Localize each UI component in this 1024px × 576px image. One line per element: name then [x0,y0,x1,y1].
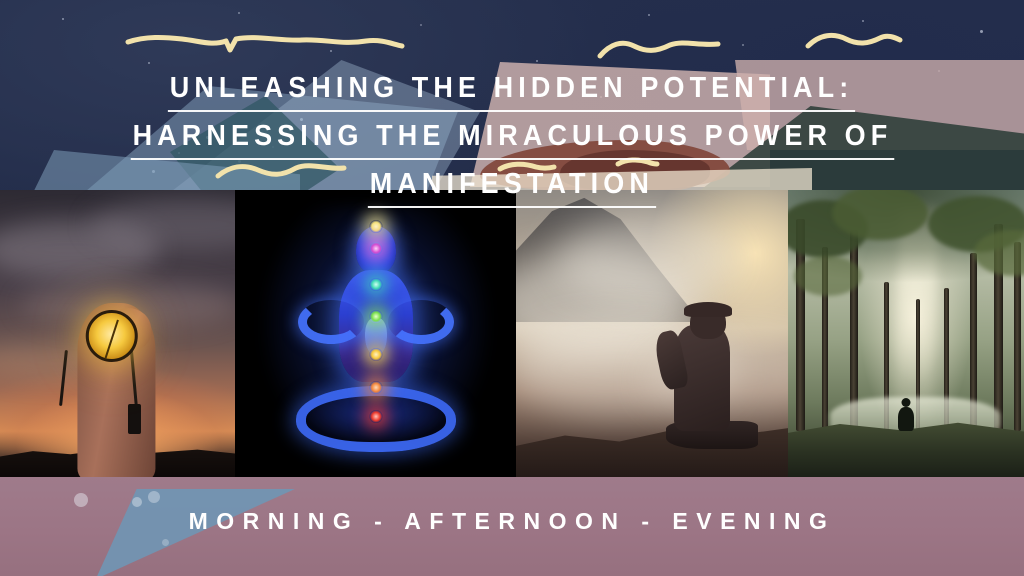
panel-prayer-image [516,190,788,477]
forest-meditator [898,407,914,431]
title-line-3: MANIFESTATION [368,170,656,208]
panel-forest-image [788,190,1024,477]
title-line-1: UNLEASHING THE HIDDEN POTENTIAL: [168,74,855,112]
poster-title: UNLEASHING THE HIDDEN POTENTIAL: HARNESS… [0,74,1024,218]
chakra-third-eye [369,242,382,255]
foliage-5 [794,256,862,296]
chakra-solar-plexus [369,348,382,361]
brush-squiggle-top-left [126,28,404,54]
band-dot-1 [74,493,88,507]
panel-compass-image [0,190,235,477]
poster-canvas: UNLEASHING THE HIDDEN POTENTIAL: HARNESS… [0,0,1024,576]
footer-text: MORNING - AFTERNOON - EVENING [0,508,1024,535]
glowing-compass-icon [85,310,137,362]
chakra-sacral [369,381,382,394]
chakra-heart [369,310,382,323]
footer-band: MORNING - AFTERNOON - EVENING [0,477,1024,576]
chain-fob [128,404,141,434]
band-dot-4 [162,539,169,546]
band-dot-2 [132,497,142,507]
title-line-2: HARNESSING THE MIRACULOUS POWER OF [130,122,894,160]
chakra-throat [369,278,382,291]
image-strip [0,190,1024,477]
mist-2 [556,214,736,304]
chakra-crown [369,220,382,233]
praying-person-cap [684,302,732,317]
panel-chakra-image [235,190,516,477]
meditating-figure [296,218,456,458]
brush-squiggle-top-right [598,38,720,60]
chakra-root [369,410,382,423]
brush-squiggle-top-far-right [806,30,902,52]
figure-arm-right [388,300,454,344]
band-dot-3 [148,491,160,503]
figure-arm-left [298,300,364,344]
